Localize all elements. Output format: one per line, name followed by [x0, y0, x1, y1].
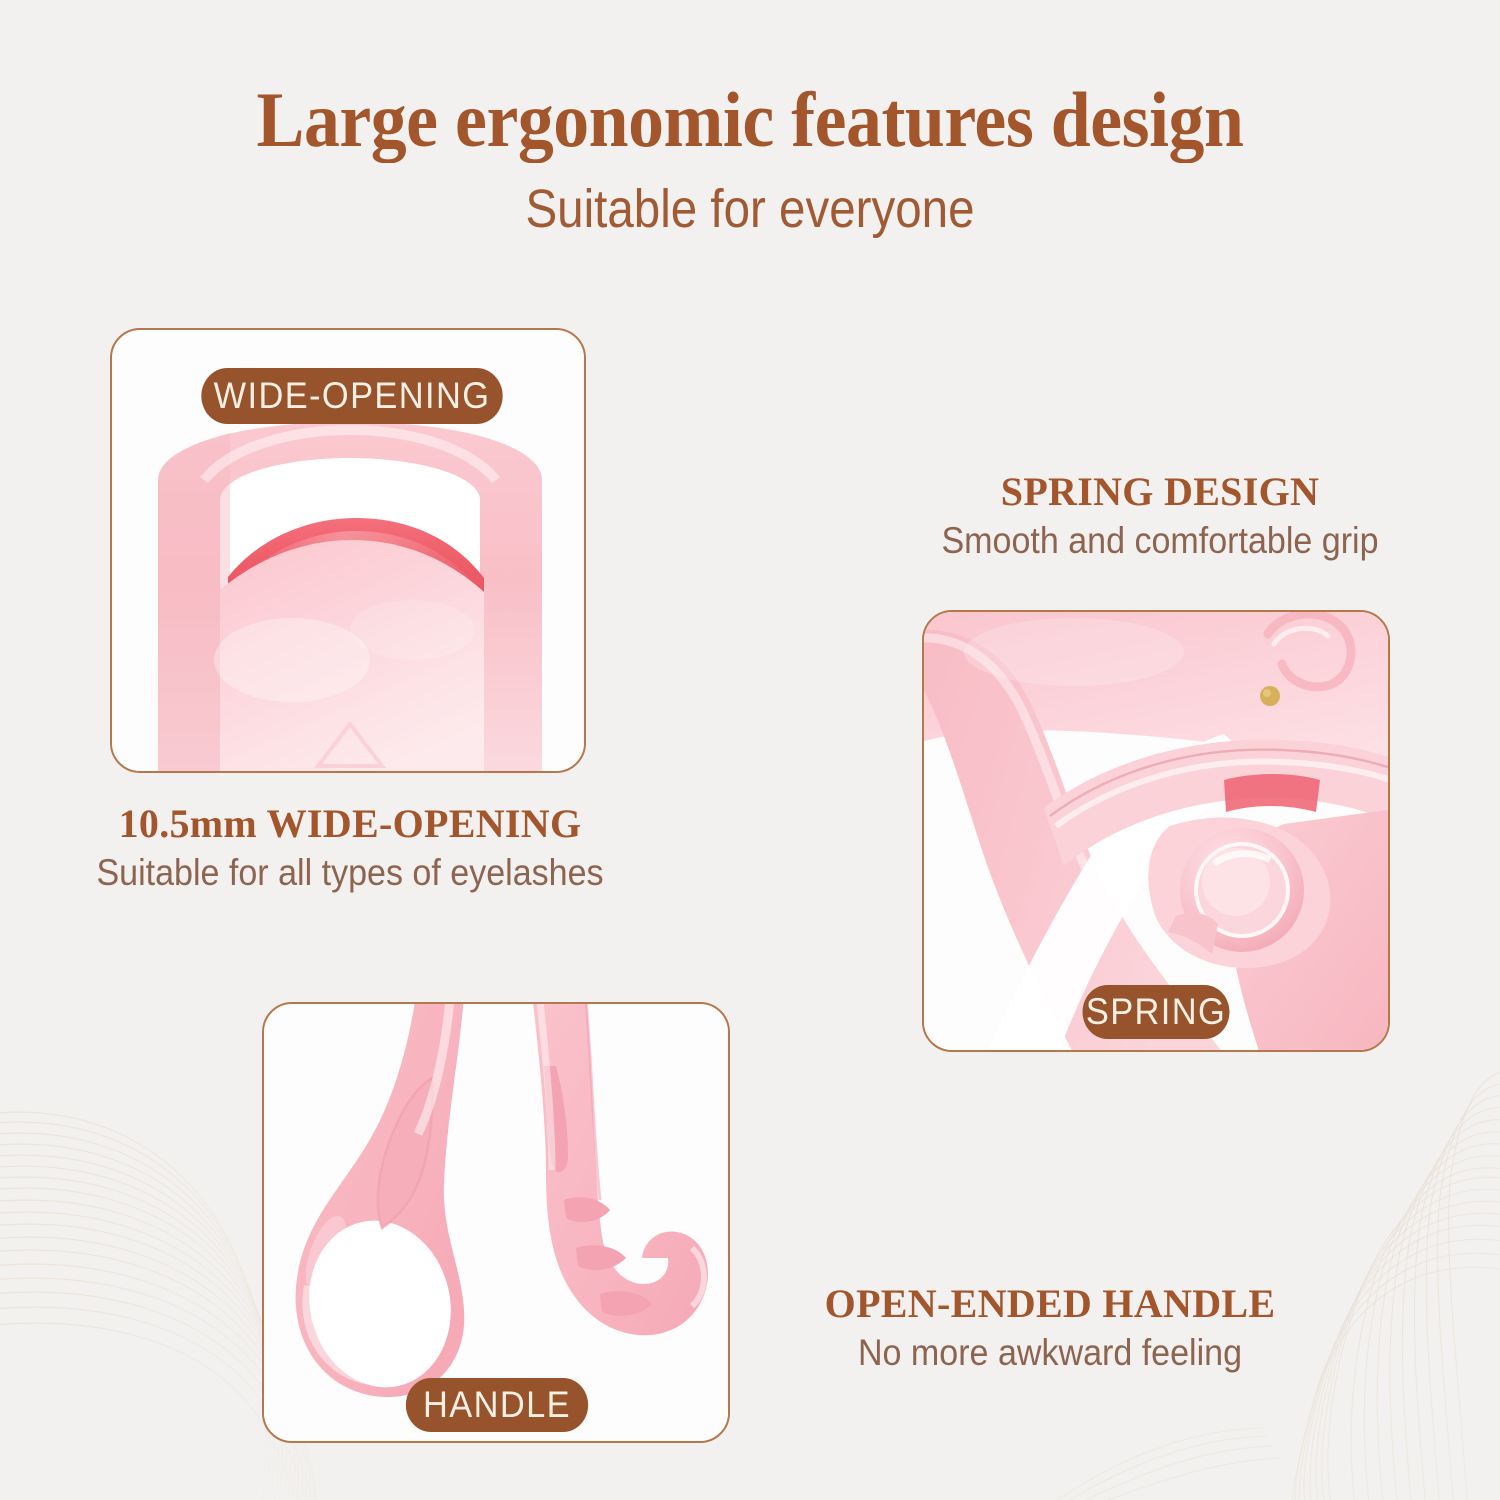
feature-image-handle	[264, 1004, 728, 1441]
feature-subheading-spring: Smooth and comfortable grip	[921, 516, 1399, 566]
badge-wide-opening: WIDE-OPENING	[201, 368, 502, 424]
wave-decoration-right	[1292, 1072, 1500, 1500]
infographic-stage: Large ergonomic features design Suitable…	[0, 0, 1500, 1500]
badge-spring: SPRING	[1083, 985, 1230, 1039]
eyelash-curler-handles-illustration	[264, 1004, 728, 1441]
page-title: Large ergonomic features design	[60, 78, 1440, 162]
text-block-spring: SPRING DESIGN Smooth and comfortable gri…	[900, 468, 1420, 566]
feature-heading-spring: SPRING DESIGN	[900, 468, 1420, 516]
text-block-wide-opening: 10.5mm WIDE-OPENING Suitable for all typ…	[0, 800, 700, 898]
feature-subheading-wide-opening: Suitable for all types of eyelashes	[28, 848, 672, 898]
feature-subheading-handle: No more awkward feeling	[811, 1328, 1289, 1378]
wave-decoration-bottom	[1040, 1428, 1282, 1500]
feature-heading-wide-opening: 10.5mm WIDE-OPENING	[0, 800, 700, 848]
text-block-handle: OPEN-ENDED HANDLE No more awkward feelin…	[790, 1280, 1310, 1378]
feature-card-handle[interactable]	[262, 1002, 730, 1443]
badge-handle: HANDLE	[406, 1378, 588, 1432]
page-subtitle: Suitable for everyone	[90, 176, 1410, 242]
feature-heading-handle: OPEN-ENDED HANDLE	[790, 1280, 1310, 1328]
